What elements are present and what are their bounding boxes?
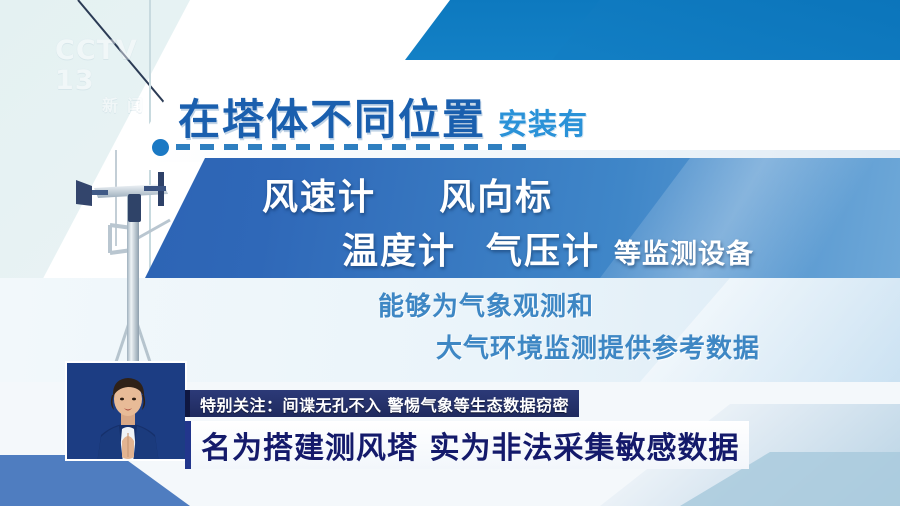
graphic-purpose-line-2: 大气环境监测提供参考数据 xyxy=(436,328,760,365)
tower-ladder xyxy=(110,220,170,253)
lower-third-headline: 名为搭建测风塔 实为非法采集敏感数据 xyxy=(185,421,749,469)
instrument-thermometer-label: 温度计 xyxy=(342,222,456,274)
anchor-figure xyxy=(67,363,187,461)
dashed-underline xyxy=(176,144,526,150)
instrument-suffix-label: 等监测设备 xyxy=(614,232,754,271)
lower-third-kicker: 特别关注：间谍无孔不入 警惕气象等生态数据窃密 xyxy=(185,390,579,417)
instrument-barometer-label: 气压计 xyxy=(486,222,600,274)
bullet-dot-icon xyxy=(152,139,169,156)
graphic-headline-main: 在塔体不同位置 xyxy=(178,86,486,147)
instrument-windvane-label: 风向标 xyxy=(439,177,553,218)
news-anchor-inset xyxy=(65,361,187,461)
broadcast-screenshot: CCTV 13 新闻 xyxy=(0,0,900,506)
anemometer xyxy=(144,172,166,206)
headline-text: 名为搭建测风塔 实为非法采集敏感数据 xyxy=(201,423,739,467)
graphic-instruments-line-1: 风速计 风向标 xyxy=(262,168,553,220)
graphic-headline-sub: 安装有 xyxy=(498,101,588,143)
wind-vane xyxy=(76,180,108,206)
kicker-text: 特别关注：间谍无孔不入 警惕气象等生态数据窃密 xyxy=(200,392,569,416)
graphic-purpose-line-1: 能够为气象观测和 xyxy=(378,286,594,323)
tower-sensor-housing xyxy=(128,194,141,222)
graphic-headline-line-1: 在塔体不同位置 安装有 xyxy=(178,86,588,147)
instrument-anemometer-label: 风速计 xyxy=(262,177,376,218)
graphic-instruments-line-2: 温度计 气压计 等监测设备 xyxy=(342,222,754,274)
